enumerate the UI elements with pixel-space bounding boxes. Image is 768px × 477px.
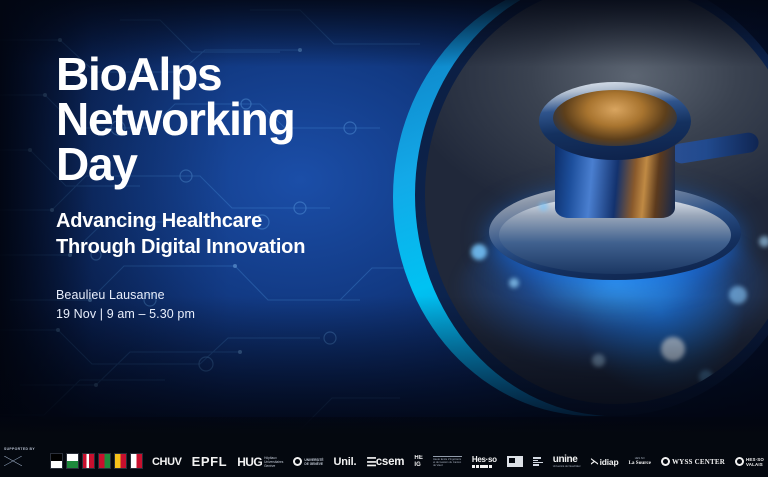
hero-circle — [393, 0, 768, 416]
unige-seal-icon — [293, 457, 302, 466]
wyss-seal-icon — [661, 457, 670, 466]
supported-by-block: Supported by — [4, 447, 48, 469]
logo-heig-text: HE IG — [414, 455, 423, 467]
hevs-seal-icon — [735, 457, 744, 466]
stethoscope-photo — [425, 0, 768, 404]
logo-lasource-text: La Source — [628, 460, 651, 466]
logo-csem-text: csem — [376, 456, 405, 468]
logo-unige: UNIVERSITÉ DE GENÈVE — [293, 457, 323, 466]
flag-ticino — [98, 453, 111, 469]
event-date: 19 Nov | 9 am – 5.30 pm — [56, 305, 416, 324]
logo-idiap-text: idiap — [600, 457, 619, 467]
logo-hug: HUG Hôpitaux Universitaires Genève — [237, 455, 283, 469]
mountain-icon — [4, 456, 22, 466]
csem-mark-icon: ☰ — [366, 455, 374, 469]
logo-hug-subtitle: Hôpitaux Universitaires Genève — [264, 456, 283, 468]
logo-idiap: ⋋ idiap — [590, 456, 618, 467]
flag-neuchatel — [82, 453, 95, 469]
logo-unine-subtitle: Université de Neuchâtel — [553, 465, 581, 468]
flag-geneve — [114, 453, 127, 469]
logo-he-arc — [533, 457, 543, 466]
logo-hug-text: HUG — [237, 455, 262, 469]
hepia-mark-icon — [507, 456, 523, 467]
logo-hevs-text: HES·SO VALAIS — [746, 457, 764, 467]
event-details: Beaulieu Lausanne 19 Nov | 9 am – 5.30 p… — [56, 286, 416, 324]
headline-block: BioAlps Networking Day Advancing Healthc… — [56, 52, 416, 324]
logo-hes-so: Hes·so — [472, 455, 497, 468]
logo-unil: Unil. — [334, 456, 357, 468]
bioalps-logo — [4, 453, 34, 469]
page-title: BioAlps Networking Day — [56, 52, 416, 187]
he-arc-mark-icon — [533, 457, 543, 466]
logo-wyss-text: WYSS CENTER — [672, 458, 725, 466]
idiap-mark-icon: ⋋ — [590, 456, 598, 467]
logo-epfl: EPFL — [192, 454, 228, 469]
venue-name: Beaulieu Lausanne — [56, 286, 416, 305]
flag-valais — [130, 453, 143, 469]
sponsor-bar: Supported by CHUV EPFL HUG Hôpitaux Univ… — [0, 417, 768, 477]
logo-csem: ☰ csem — [366, 455, 404, 469]
flag-fribourg — [50, 453, 63, 469]
logo-heig-subtitle: Haute Ecole d'Ingénierie et de Gestion d… — [433, 456, 462, 467]
event-subtitle: Advancing Healthcare Through Digital Inn… — [56, 209, 416, 260]
hesso-squares-icon — [472, 465, 492, 468]
logo-heig: HE IG — [414, 455, 423, 467]
stethoscope-icon — [485, 76, 745, 306]
logo-hes-so-valais: HES·SO VALAIS — [735, 457, 764, 467]
logo-hesso-text: Hes·so — [472, 455, 497, 464]
blue-glow — [455, 219, 768, 370]
navy-ring — [415, 0, 768, 416]
logo-hepia — [507, 456, 523, 467]
logo-la-source: HES·SO La Source — [628, 457, 651, 466]
logo-unine-text: unine — [553, 454, 578, 465]
flag-vaud — [66, 453, 79, 469]
logo-heig-vd-full: Haute Ecole d'Ingénierie et de Gestion d… — [433, 456, 462, 467]
supported-by-label: Supported by — [4, 447, 35, 451]
logo-chuv: CHUV — [152, 456, 182, 468]
logo-wyss-center: WYSS CENTER — [661, 457, 725, 466]
logo-unige-text: UNIVERSITÉ DE GENÈVE — [304, 458, 323, 466]
logo-unine: unine Université de Neuchâtel — [553, 454, 581, 468]
partner-logos: CHUV EPFL HUG Hôpitaux Universitaires Ge… — [152, 454, 764, 469]
cyan-arc-accent — [393, 0, 768, 416]
canton-flags — [50, 453, 143, 469]
event-banner: BioAlps Networking Day Advancing Healthc… — [0, 0, 768, 477]
